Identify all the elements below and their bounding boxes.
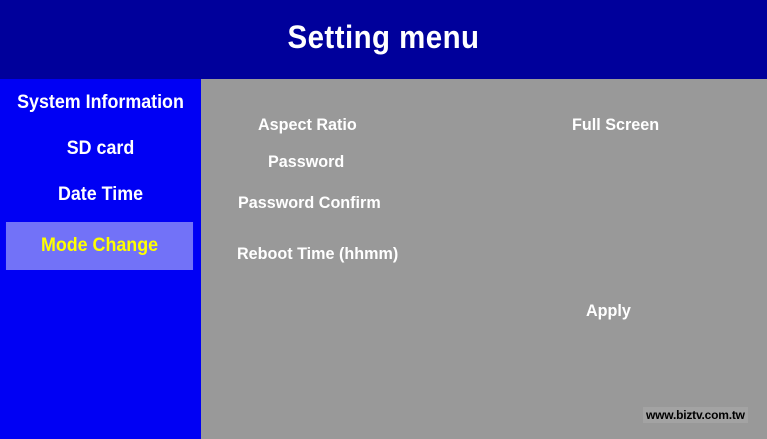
header-bar: Setting menu <box>0 0 767 79</box>
sidebar-nav: System Information SD card Date Time Mod… <box>0 79 201 439</box>
setting-menu-screen: Setting menu System Information SD card … <box>0 0 767 439</box>
site-watermark: www.biztv.com.tw <box>643 407 748 423</box>
sidebar-item-system-information[interactable]: System Information <box>6 79 195 127</box>
settings-panel: Aspect Ratio Full Screen Password Passwo… <box>201 79 767 439</box>
sidebar-item-mode-change[interactable]: Mode Change <box>6 222 193 270</box>
password-confirm-label: Password Confirm <box>238 193 381 213</box>
apply-button[interactable]: Apply <box>586 301 631 321</box>
aspect-ratio-label: Aspect Ratio <box>258 115 357 135</box>
page-title: Setting menu <box>31 19 737 56</box>
password-label: Password <box>268 152 344 172</box>
reboot-time-label: Reboot Time (hhmm) <box>237 244 398 264</box>
aspect-ratio-value[interactable]: Full Screen <box>572 115 659 135</box>
sidebar-item-date-time[interactable]: Date Time <box>6 171 195 219</box>
sidebar-item-sd-card[interactable]: SD card <box>6 125 195 173</box>
